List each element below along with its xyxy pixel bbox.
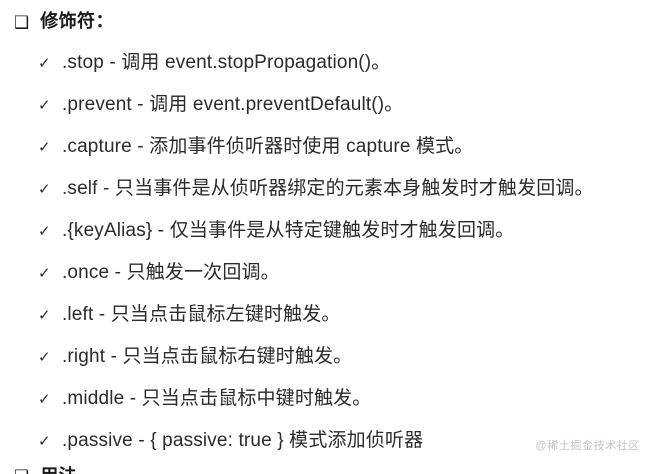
list-item-label: .self - 只当事件是从侦听器绑定的元素本身触发时才触发回调。 xyxy=(62,178,594,200)
modifier-list: ✓ .stop - 调用 event.stopPropagation()。 ✓ … xyxy=(0,42,648,462)
watermark: @稀土掘金技术社区 xyxy=(535,437,640,453)
list-item: ✓ .capture - 添加事件侦听器时使用 capture 模式。 xyxy=(0,126,648,168)
check-mark-icon: ✓ xyxy=(38,182,62,197)
check-mark-icon: ✓ xyxy=(38,350,62,365)
list-item-label: .once - 只触发一次回调。 xyxy=(62,262,280,284)
list-item-label: .left - 只当点击鼠标左键时触发。 xyxy=(62,304,341,326)
check-mark-icon: ✓ xyxy=(38,140,62,155)
list-item-label: .stop - 调用 event.stopPropagation()。 xyxy=(62,52,390,74)
list-item: ✓ .once - 只触发一次回调。 xyxy=(0,252,648,294)
list-item: ✓ .stop - 调用 event.stopPropagation()。 xyxy=(0,42,648,84)
check-mark-icon: ✓ xyxy=(38,392,62,407)
list-item-label: .passive - { passive: true } 模式添加侦听器 xyxy=(62,430,423,452)
check-mark-icon: ✓ xyxy=(38,224,62,239)
list-item: ✓ .right - 只当点击鼠标右键时触发。 xyxy=(0,336,648,378)
list-item: ✓ .self - 只当事件是从侦听器绑定的元素本身触发时才触发回调。 xyxy=(0,168,648,210)
check-mark-icon: ✓ xyxy=(38,434,62,449)
check-mark-icon: ✓ xyxy=(38,56,62,71)
slide-canvas: ❑ 修饰符： ✓ .stop - 调用 event.stopPropagatio… xyxy=(0,0,648,474)
list-item-label: .prevent - 调用 event.preventDefault()。 xyxy=(62,94,403,116)
list-item: ✓ .left - 只当点击鼠标左键时触发。 xyxy=(0,294,648,336)
list-item-label: .{keyAlias} - 仅当事件是从特定键触发时才触发回调。 xyxy=(62,220,514,242)
next-section-label: 用法 xyxy=(40,462,77,474)
hollow-square-bullet-icon: ❑ xyxy=(14,15,29,32)
list-item-label: .capture - 添加事件侦听器时使用 capture 模式。 xyxy=(62,136,473,158)
page-title: ❑ 修饰符： xyxy=(14,7,114,33)
check-mark-icon: ✓ xyxy=(38,308,62,323)
page-title-label: 修饰符： xyxy=(40,7,114,33)
check-mark-icon: ✓ xyxy=(38,98,62,113)
next-section-heading: ❑ 用法 xyxy=(14,462,77,474)
list-item: ✓ .prevent - 调用 event.preventDefault()。 xyxy=(0,84,648,126)
list-item: ✓ .{keyAlias} - 仅当事件是从特定键触发时才触发回调。 xyxy=(0,210,648,252)
list-item-label: .middle - 只当点击鼠标中键时触发。 xyxy=(62,388,371,410)
list-item-label: .right - 只当点击鼠标右键时触发。 xyxy=(62,346,352,368)
list-item: ✓ .middle - 只当点击鼠标中键时触发。 xyxy=(0,378,648,420)
hollow-square-bullet-icon: ❑ xyxy=(14,469,29,474)
check-mark-icon: ✓ xyxy=(38,266,62,281)
